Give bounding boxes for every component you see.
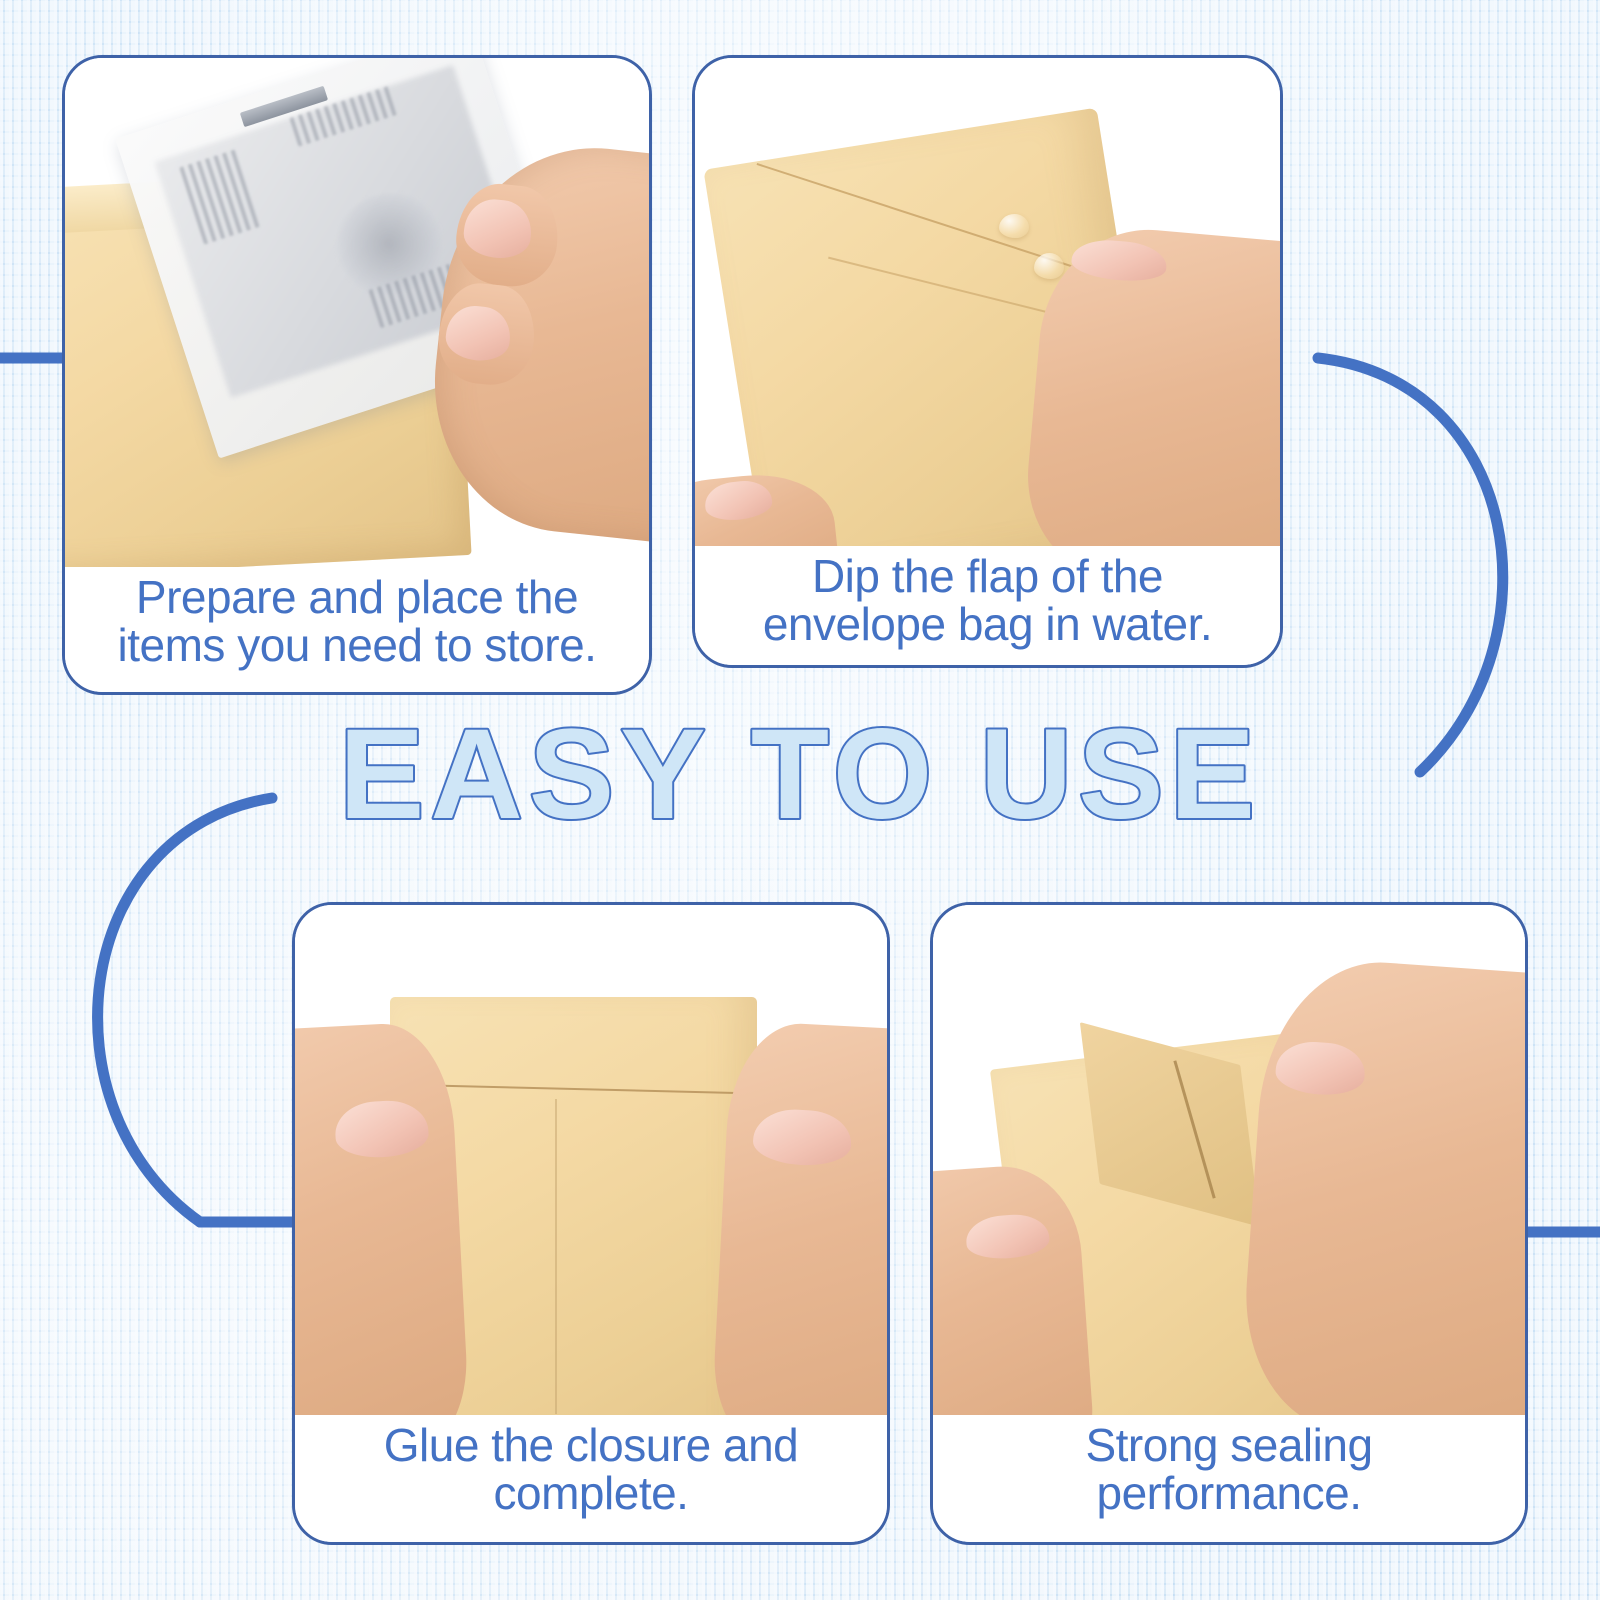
fingernail-graphic-2 (752, 1107, 853, 1168)
water-droplet-2 (1034, 253, 1064, 279)
fingernail-graphic-2 (965, 1212, 1051, 1260)
step-card-1: Prepare and place the items you need to … (62, 55, 652, 695)
infographic-stage: Prepare and place the items you need to … (0, 0, 1600, 1600)
hand-graphic-right (710, 1020, 887, 1414)
step-caption-4: Strong sealing performance. (933, 1415, 1525, 1543)
fingernail-graphic-2 (702, 478, 773, 523)
step-photo-2 (695, 58, 1280, 546)
step-caption-2: Dip the flap of the envelope bag in wate… (695, 546, 1280, 666)
step-photo-4 (933, 905, 1525, 1415)
step-caption-1: Prepare and place the items you need to … (65, 567, 649, 693)
fingernail-graphic-1 (1274, 1040, 1367, 1098)
step-caption-3: Glue the closure and complete. (295, 1415, 887, 1543)
step-photo-1 (65, 58, 649, 567)
step-card-2: Dip the flap of the envelope bag in wate… (692, 55, 1283, 668)
fingernail-graphic-1 (1071, 237, 1169, 284)
step-photo-3 (295, 905, 887, 1415)
fingernail-graphic-1 (334, 1099, 431, 1159)
step-card-4: Strong sealing performance. (930, 902, 1528, 1545)
hand-graphic-right (1237, 955, 1525, 1415)
step-card-3: Glue the closure and complete. (292, 902, 890, 1545)
water-droplet-1 (999, 214, 1029, 238)
envelope-crease (555, 1099, 557, 1415)
